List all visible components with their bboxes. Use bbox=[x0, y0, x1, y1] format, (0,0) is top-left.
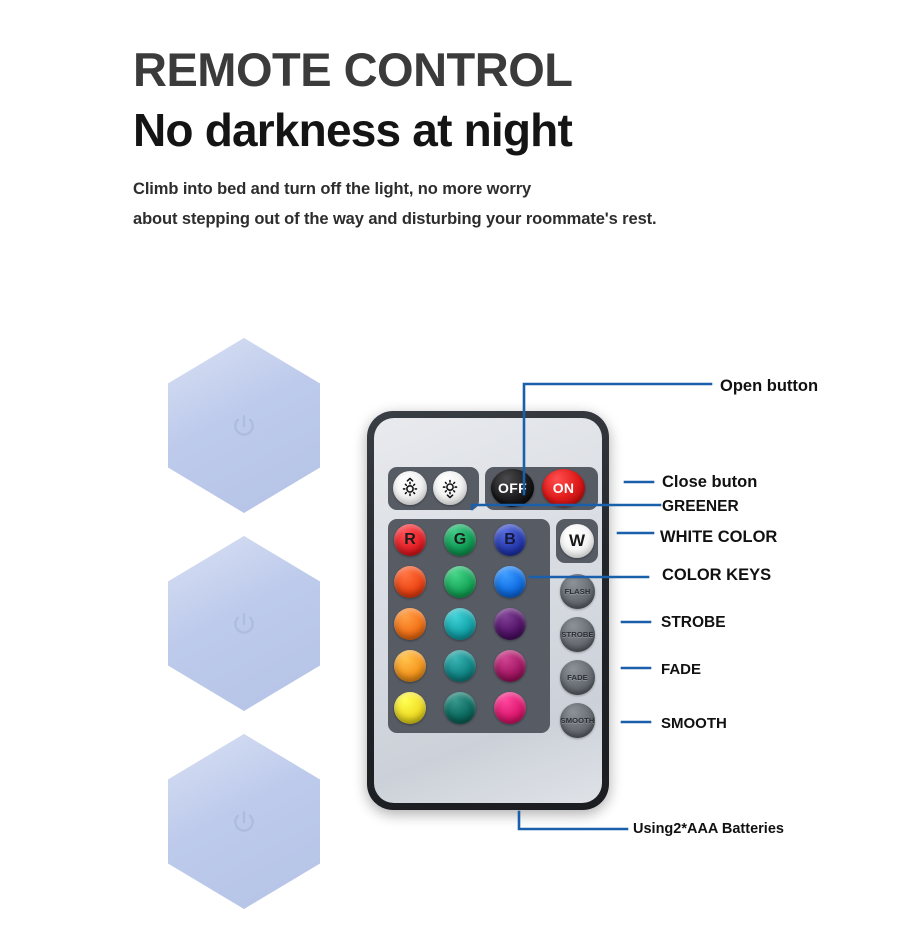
callout-smooth: SMOOTH bbox=[661, 716, 727, 731]
power-icon bbox=[231, 809, 257, 835]
page-subtitle: No darkness at night bbox=[133, 103, 873, 157]
color-button-label: G bbox=[454, 532, 466, 548]
callout-batteries: Using2*AAA Batteries bbox=[633, 822, 784, 837]
callout-fade: FADE bbox=[661, 662, 701, 677]
power-icon bbox=[231, 611, 257, 637]
headline-block: REMOTE CONTROL No darkness at night Clim… bbox=[133, 42, 873, 234]
hex-light-3[interactable] bbox=[168, 734, 320, 909]
brightness-up-button[interactable] bbox=[393, 471, 427, 505]
color-button-r1-c1[interactable]: R bbox=[394, 524, 426, 556]
color-button-label: B bbox=[504, 532, 516, 548]
description-line-2: about stepping out of the way and distur… bbox=[133, 204, 873, 234]
callout-color-keys: COLOR KEYS bbox=[662, 567, 771, 584]
color-button-r4-c2[interactable] bbox=[444, 650, 476, 682]
hex-light-1[interactable] bbox=[168, 338, 320, 513]
off-button-label: OFF bbox=[498, 480, 527, 496]
color-button-r3-c3[interactable] bbox=[494, 608, 526, 640]
color-button-r5-c2[interactable] bbox=[444, 692, 476, 724]
smooth-button-label: SMOOTH bbox=[561, 716, 595, 725]
callout-white-color: WHITE COLOR bbox=[660, 529, 777, 546]
leader-batteries bbox=[519, 812, 627, 829]
on-button-label: ON bbox=[553, 480, 575, 496]
white-button-label: W bbox=[569, 531, 585, 551]
smooth-button[interactable]: SMOOTH bbox=[560, 703, 595, 738]
white-color-button[interactable]: W bbox=[560, 524, 594, 558]
color-button-r5-c3[interactable] bbox=[494, 692, 526, 724]
color-button-r1-c3[interactable]: B bbox=[494, 524, 526, 556]
sun-down-icon bbox=[439, 477, 461, 499]
hex-light-2[interactable] bbox=[168, 536, 320, 711]
color-button-r5-c1[interactable] bbox=[394, 692, 426, 724]
color-button-r4-c1[interactable] bbox=[394, 650, 426, 682]
color-button-r4-c3[interactable] bbox=[494, 650, 526, 682]
strobe-button-label: STROBE bbox=[561, 630, 593, 639]
color-button-r2-c3[interactable] bbox=[494, 566, 526, 598]
flash-button-label: FLASH bbox=[565, 587, 591, 596]
off-button[interactable]: OFF bbox=[491, 469, 534, 507]
flash-button[interactable]: FLASH bbox=[560, 574, 595, 609]
description-line-1: Climb into bed and turn off the light, n… bbox=[133, 174, 873, 204]
remote-faceplate: OFF ON W FLASH STROBE FADE SMOOTH bbox=[374, 418, 602, 803]
fade-button[interactable]: FADE bbox=[560, 660, 595, 695]
callout-strobe: STROBE bbox=[661, 615, 726, 631]
color-button-label: R bbox=[404, 532, 416, 548]
color-button-r2-c2[interactable] bbox=[444, 566, 476, 598]
hex-light-group bbox=[168, 338, 320, 932]
sun-up-icon bbox=[399, 477, 421, 499]
on-button[interactable]: ON bbox=[542, 469, 585, 507]
strobe-button[interactable]: STROBE bbox=[560, 617, 595, 652]
brightness-down-button[interactable] bbox=[433, 471, 467, 505]
color-button-r3-c1[interactable] bbox=[394, 608, 426, 640]
fade-button-label: FADE bbox=[567, 673, 588, 682]
callout-open-button: Open button bbox=[720, 378, 818, 395]
remote-control: OFF ON W FLASH STROBE FADE SMOOTH bbox=[367, 411, 609, 810]
description-block: Climb into bed and turn off the light, n… bbox=[133, 174, 873, 234]
color-button-r3-c2[interactable] bbox=[444, 608, 476, 640]
infographic-canvas: REMOTE CONTROL No darkness at night Clim… bbox=[0, 0, 900, 900]
callout-greener: GREENER bbox=[662, 499, 739, 515]
page-title: REMOTE CONTROL bbox=[133, 42, 873, 98]
color-button-r1-c2[interactable]: G bbox=[444, 524, 476, 556]
callout-close-button: Close buton bbox=[662, 474, 757, 491]
power-icon bbox=[231, 413, 257, 439]
color-button-r2-c1[interactable] bbox=[394, 566, 426, 598]
